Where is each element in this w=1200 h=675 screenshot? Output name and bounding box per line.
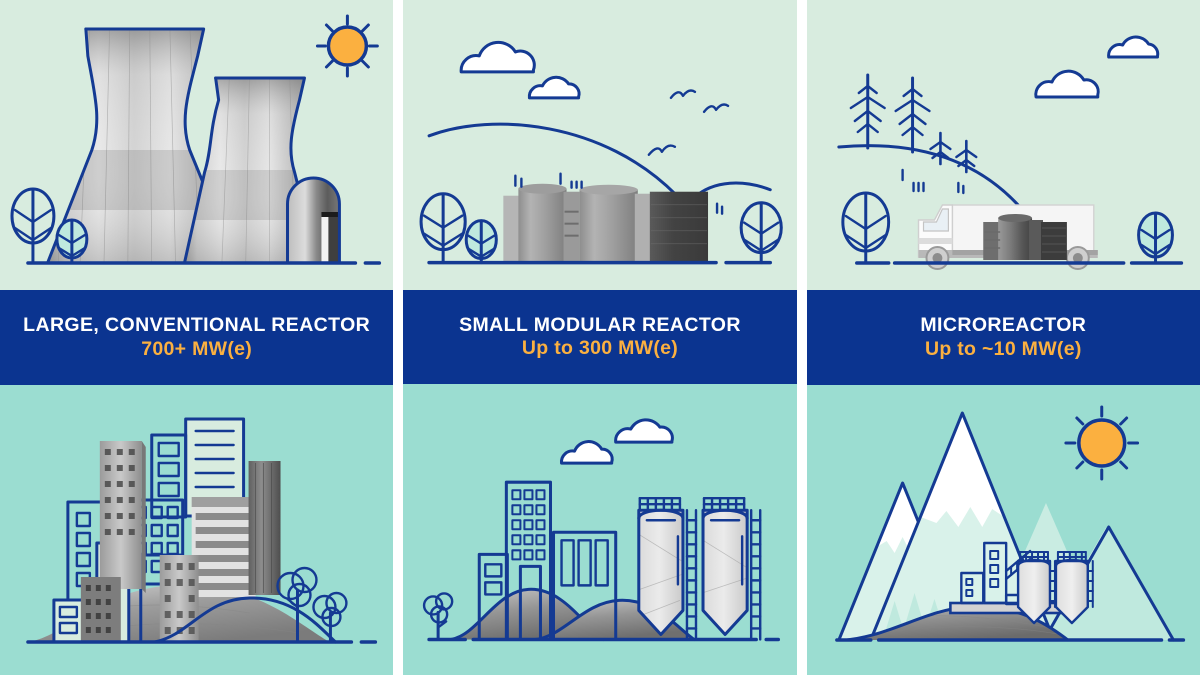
cloud-large	[616, 420, 673, 442]
banner-large-conventional-reactor: LARGE, CONVENTIONAL REACTOR 700+ MW(e)	[0, 290, 393, 385]
tree-leaf-right	[741, 203, 781, 263]
tree-leaf-small	[467, 221, 497, 263]
conifer-trees-on-hill	[850, 75, 975, 172]
panel-small-modular-reactor: SMALL MODULAR REACTOR Up to 300 MW(e)	[403, 0, 796, 675]
banner-power: 700+ MW(e)	[141, 340, 252, 360]
banner-title: LARGE, CONVENTIONAL REACTOR	[23, 316, 370, 336]
cloud-small	[562, 442, 613, 464]
tree-leaf-left	[843, 193, 889, 263]
scene-microreactor-transport	[807, 0, 1200, 290]
cloud-small	[530, 77, 580, 98]
cloud-large	[1035, 71, 1097, 97]
tick-marks	[902, 170, 963, 193]
banner-power: Up to ~10 MW(e)	[925, 340, 1082, 360]
scene-small-town	[403, 384, 796, 675]
cloud-small	[1108, 37, 1157, 57]
scene-large-reactor-plant	[0, 0, 393, 290]
banner-title: MICROREACTOR	[920, 316, 1086, 336]
panel-microreactor: MICROREACTOR Up to ~10 MW(e)	[807, 0, 1200, 675]
storage-silos	[637, 499, 760, 643]
containment-dome	[286, 176, 342, 266]
silo-ladder-a	[687, 511, 696, 640]
scene-large-city-skyline	[0, 385, 393, 675]
silo-ladder-b	[752, 511, 761, 640]
banner-power: Up to 300 MW(e)	[522, 339, 678, 359]
birds	[649, 91, 728, 155]
panel-large-conventional-reactor: LARGE, CONVENTIONAL REACTOR 700+ MW(e)	[0, 0, 393, 675]
sun-icon	[1066, 407, 1138, 479]
infographic-board: LARGE, CONVENTIONAL REACTOR 700+ MW(e)	[0, 0, 1200, 675]
tree-leaf-large	[12, 189, 54, 263]
sun-icon	[317, 16, 377, 76]
tree-leaf-right	[1138, 213, 1172, 263]
banner-microreactor: MICROREACTOR Up to ~10 MW(e)	[807, 290, 1200, 385]
cloud-large	[461, 42, 534, 72]
round-tree	[424, 594, 452, 639]
banner-small-modular-reactor: SMALL MODULAR REACTOR Up to 300 MW(e)	[403, 290, 796, 385]
scene-smr-plant	[403, 0, 796, 290]
banner-title: SMALL MODULAR REACTOR	[459, 316, 741, 336]
tree-leaf-large	[421, 194, 465, 263]
reactor-module-cylinders	[504, 182, 709, 262]
scene-remote-mountain-site	[807, 385, 1200, 675]
